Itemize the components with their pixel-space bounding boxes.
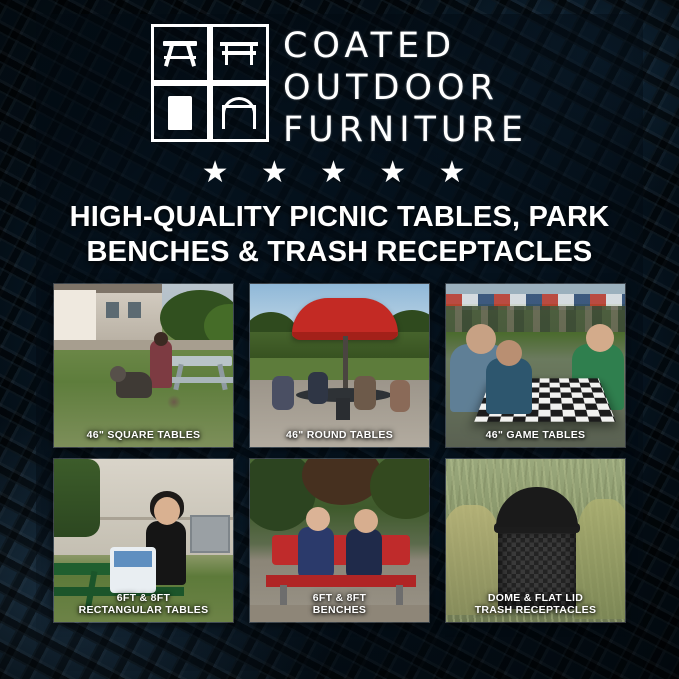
caption-line-1: DOME & FLAT LID: [488, 592, 583, 604]
trash-receptacle-icon: [151, 83, 210, 142]
product-caption: 46" ROUND TABLES: [250, 425, 429, 447]
product-caption: 46" GAME TABLES: [446, 425, 625, 447]
caption-line-1: 46" SQUARE TABLES: [87, 429, 201, 441]
product-photo: [250, 284, 429, 447]
caption-line-1: 46" GAME TABLES: [486, 429, 586, 441]
caption-line-2: BENCHES: [313, 604, 366, 616]
brand-line-2: OUTDOOR: [283, 70, 528, 108]
product-caption: 6FT & 8FT BENCHES: [250, 588, 429, 622]
caption-line-1: 46" ROUND TABLES: [286, 429, 393, 441]
page-title: HIGH-QUALITY PICNIC TABLES, PARK BENCHES…: [40, 200, 639, 271]
product-tile-round-tables[interactable]: 46" ROUND TABLES: [249, 283, 430, 448]
brand-wordmark: COATED OUTDOOR FURNITURE: [283, 24, 528, 149]
product-infographic: COATED OUTDOOR FURNITURE ★ ★ ★ ★ ★ HIGH-…: [0, 0, 679, 679]
caption-line-2: TRASH RECEPTACLES: [475, 604, 597, 616]
product-caption: DOME & FLAT LID TRASH RECEPTACLES: [446, 588, 625, 622]
product-tile-square-tables[interactable]: 46" SQUARE TABLES: [53, 283, 234, 448]
picnic-table-icon: [151, 24, 210, 83]
headline-line-1: HIGH-QUALITY PICNIC TABLES, PARK: [70, 201, 610, 233]
logo-mark: [151, 24, 269, 142]
product-grid: 46" SQUARE TABLES 46" ROUND TABLES: [53, 283, 626, 623]
content-layer: COATED OUTDOOR FURNITURE ★ ★ ★ ★ ★ HIGH-…: [0, 0, 679, 679]
headline-line-2: BENCHES & TRASH RECEPTACLES: [40, 235, 639, 270]
caption-line-2: RECTANGULAR TABLES: [79, 604, 209, 616]
caption-line-1: 6FT & 8FT: [117, 592, 170, 604]
product-caption: 6FT & 8FT RECTANGULAR TABLES: [54, 588, 233, 622]
product-photo: [54, 284, 233, 447]
brand-line-1: COATED: [283, 28, 528, 66]
product-tile-benches[interactable]: 6FT & 8FT BENCHES: [249, 458, 430, 623]
park-bench-icon: [210, 24, 269, 83]
caption-line-1: 6FT & 8FT: [313, 592, 366, 604]
product-photo: [446, 284, 625, 447]
star-rating: ★ ★ ★ ★ ★: [0, 158, 679, 188]
dome-lid-receptacle-icon: [210, 83, 269, 142]
product-tile-rectangular-tables[interactable]: 6FT & 8FT RECTANGULAR TABLES: [53, 458, 234, 623]
product-caption: 46" SQUARE TABLES: [54, 425, 233, 447]
product-tile-game-tables[interactable]: 46" GAME TABLES: [445, 283, 626, 448]
brand-line-3: FURNITURE: [283, 112, 528, 150]
brand-logo: COATED OUTDOOR FURNITURE: [0, 24, 679, 149]
product-tile-trash-receptacles[interactable]: DOME & FLAT LID TRASH RECEPTACLES: [445, 458, 626, 623]
